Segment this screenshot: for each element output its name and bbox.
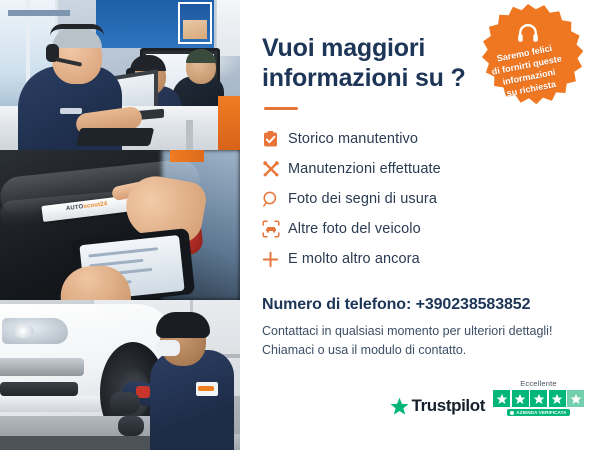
contact-subtext: Contattaci in qualsiasi momento per ulte…	[262, 322, 576, 361]
trustpilot-rating-label: Eccellente	[520, 379, 557, 388]
star-filled	[549, 390, 566, 407]
monitor-screen-bar	[8, 10, 70, 16]
car-scan-icon	[262, 220, 288, 238]
paint-thickness-measure-photo: AUTOscout24	[0, 150, 240, 300]
screen-line	[88, 247, 158, 257]
list-item: Foto dei segni di usura	[262, 184, 576, 214]
list-item-label: Foto dei segni di usura	[288, 191, 437, 207]
contact-subtext-line-1: Contattaci in qualsiasi momento per ulte…	[262, 322, 576, 341]
plus-icon	[262, 251, 288, 268]
car-bumper	[0, 396, 110, 412]
technician-body	[150, 350, 234, 450]
promo-panel: AUTOscout24	[0, 0, 600, 450]
list-item: Altre foto del veicolo	[262, 214, 576, 244]
phone-number-link[interactable]: +390238583852	[416, 296, 531, 313]
agent-1-headset-band	[50, 24, 104, 36]
list-item-label: E molto altro ancora	[288, 251, 420, 267]
contact-subtext-line-2: Chiamaci o usa il modulo di contatto.	[262, 341, 576, 360]
trustpilot-logo: Trustpilot	[390, 396, 485, 416]
technician-shirt-logo	[196, 382, 218, 396]
star-filled	[530, 390, 547, 407]
tools-cross-icon	[262, 160, 288, 178]
technician-glove-upper	[110, 392, 140, 414]
list-item: Storico manutentivo	[262, 124, 576, 154]
list-item: Manutenzioni effettuate	[262, 154, 576, 184]
technician-face-mask	[156, 340, 180, 356]
orange-accent-strip	[170, 150, 204, 162]
feature-list: Storico manutentivo Manutenzi	[262, 124, 576, 274]
list-item-label: Storico manutentivo	[288, 131, 418, 147]
strip-brand-text: AUTOscout24	[66, 201, 108, 212]
trustpilot-wordmark: Trustpilot	[412, 396, 485, 416]
car-grille-upper	[0, 358, 84, 376]
technician-glove-lower	[118, 416, 144, 436]
desk-tablet	[76, 128, 154, 146]
trustpilot-star-icon	[390, 397, 409, 416]
headset-icon	[517, 23, 539, 43]
technician-hair	[156, 312, 210, 338]
trustpilot-rating: Eccellente AZIENDA VERIFICATA	[493, 379, 584, 416]
content-panel: Saremo felici di fornirti queste informa…	[240, 0, 600, 450]
car-headlight	[2, 318, 68, 344]
vehicle-lift-base	[0, 436, 150, 450]
verified-label: AZIENDA VERIFICATA	[516, 410, 566, 415]
title-divider	[264, 107, 298, 110]
desk-leg	[186, 120, 193, 150]
photo-strip: AUTOscout24	[0, 0, 240, 450]
strip-brand-a: AUTO	[66, 204, 84, 212]
wall-poster	[178, 2, 212, 44]
list-item-label: Manutenzioni effettuate	[288, 161, 441, 177]
agent-1-shirt-logo	[60, 108, 82, 114]
call-center-agents-photo	[0, 0, 240, 150]
car-grille-lower	[0, 382, 78, 396]
technician-tire-inspection-photo	[0, 300, 240, 450]
wall-papers	[216, 0, 240, 56]
info-promise-badge: Saremo felici di fornirti queste informa…	[470, 2, 586, 118]
verified-check-icon	[510, 411, 514, 415]
star-filled	[512, 390, 529, 407]
phone-number-line: Numero di telefono: +390238583852	[262, 296, 576, 314]
star-partial	[567, 390, 584, 407]
trustpilot-widget[interactable]: Trustpilot Eccellente AZIENDA VERIFICATA	[390, 379, 584, 416]
trustpilot-stars	[493, 390, 584, 407]
clipboard-check-icon	[262, 131, 288, 148]
star-filled	[493, 390, 510, 407]
phone-label: Numero di telefono:	[262, 296, 411, 313]
strip-brand-b: scout24	[83, 201, 108, 210]
orange-accent-block	[218, 96, 240, 150]
list-item-label: Altre foto del veicolo	[288, 221, 421, 237]
magnifier-icon	[262, 191, 288, 208]
list-item: E molto altro ancora	[262, 244, 576, 274]
verified-business-badge: AZIENDA VERIFICATA	[507, 409, 569, 416]
